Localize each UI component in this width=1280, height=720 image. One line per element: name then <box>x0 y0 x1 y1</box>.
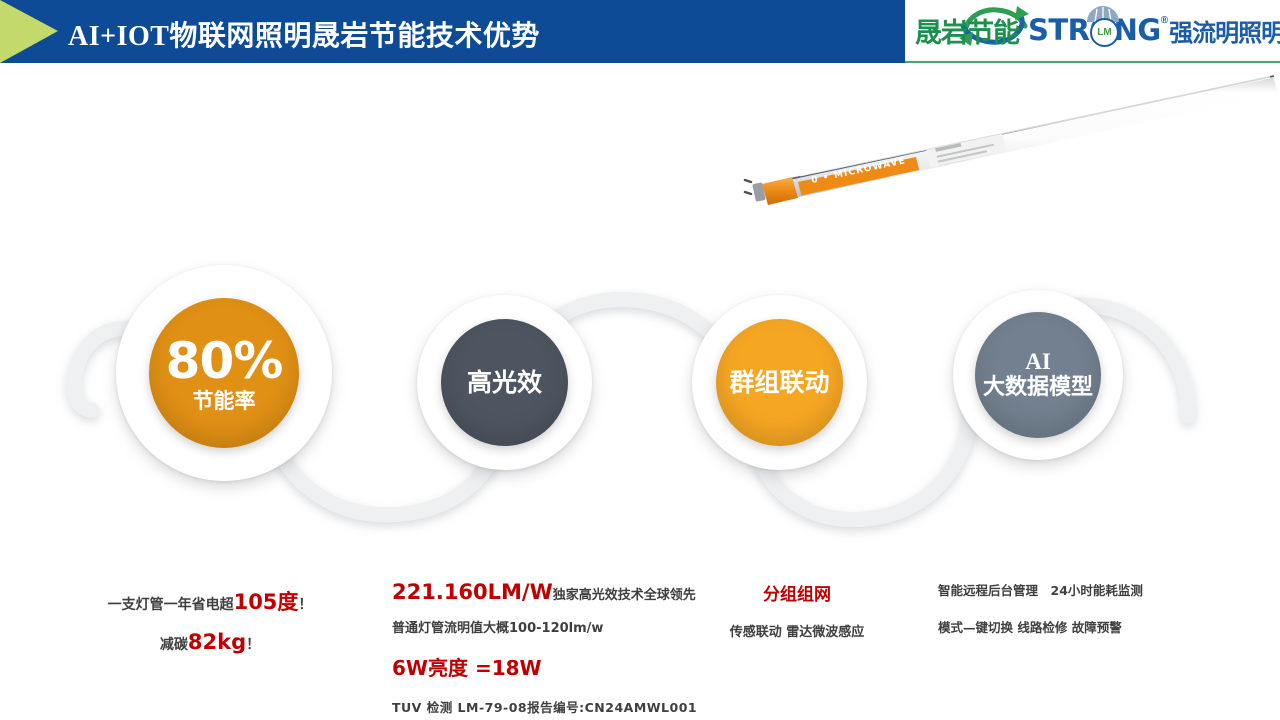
caption-text: ！ <box>298 597 312 613</box>
page-title: AI+IOT物联网照明晟岩节能技术优势 <box>68 14 540 54</box>
caption-text: 独家高光效技术全球领先 <box>553 588 696 603</box>
node-label: 群组联动 <box>729 369 829 397</box>
caption-highlight: 分组组网 <box>712 580 882 605</box>
node-label: 大数据模型 <box>983 376 1093 401</box>
caption-line: TUV 检测 LM-79-08报告编号:CN24AMWL001 <box>392 697 697 716</box>
led-tube-light-image: 0 • MICROWAVE <box>740 70 1280 210</box>
caption-column-ai: 智能远程后台管理 24小时能耗监测 模式—键切换 线路检修 故障预警 <box>938 580 1143 636</box>
arrow-icon <box>0 0 58 63</box>
slide-root: AI+IOT物联网照明晟岩节能技术优势 晟岩节能 STRONG LM ® 强流明… <box>0 0 1280 720</box>
caption-column-linkage: 分组组网 传感联动 雷达微波感应 <box>712 580 882 640</box>
node-value: 80% <box>166 333 283 389</box>
caption-column-energy: 一支灯管一年省电超105度！ 减碳82kg！ <box>100 586 320 654</box>
caption-text: 减碳 <box>160 637 188 653</box>
node-high-efficiency[interactable]: 高光效 <box>417 295 592 470</box>
caption-line: 一支灯管一年省电超105度！ <box>100 586 320 616</box>
caption-highlight: 82kg <box>188 630 246 654</box>
node-value: AI <box>1025 349 1051 375</box>
node-label: 高光效 <box>467 369 542 397</box>
caption-text: 一支灯管一年省电超 <box>108 597 234 613</box>
node-disc: 群组联动 <box>716 319 843 446</box>
caption-line: 模式—键切换 线路检修 故障预警 <box>938 617 1143 636</box>
node-disc: 高光效 <box>441 319 568 446</box>
caption-line: 221.160LM/W独家高光效技术全球领先 <box>392 580 697 604</box>
caption-line: 智能远程后台管理 24小时能耗监测 <box>938 580 1143 599</box>
caption-line: 减碳82kg！ <box>100 630 320 654</box>
node-label: 节能率 <box>193 390 256 414</box>
company-logo: 晟岩节能 STRONG LM ® 强流明照明 <box>905 0 1280 63</box>
node-energy-saving[interactable]: 80% 节能率 <box>116 265 332 481</box>
caption-line: 传感联动 雷达微波感应 <box>712 621 882 640</box>
node-group-linkage[interactable]: 群组联动 <box>692 295 867 470</box>
node-disc: 80% 节能率 <box>149 298 299 448</box>
caption-highlight: 105度 <box>234 590 299 614</box>
caption-line: 普通灯管流明值大概100-120lm/w <box>392 617 697 636</box>
logo-brand-cn2: 强流明照明 <box>1169 13 1280 48</box>
caption-text: ！ <box>246 637 260 653</box>
caption-column-efficiency: 221.160LM/W独家高光效技术全球领先 普通灯管流明值大概100-120l… <box>392 580 697 716</box>
logo-brand-cn: 晟岩节能 <box>915 11 1019 50</box>
node-ai-big-data[interactable]: AI 大数据模型 <box>953 290 1123 460</box>
logo-strong-group: STRONG LM ® 强流明照明 <box>1028 13 1280 48</box>
caption-highlight: 221.160LM/W <box>392 580 553 604</box>
header-bar: AI+IOT物联网照明晟岩节能技术优势 晟岩节能 STRONG LM ® 强流明… <box>0 0 1280 63</box>
caption-highlight: 6W亮度 =18W <box>392 652 697 681</box>
registered-mark: ® <box>1161 15 1168 26</box>
logo-lm-badge: LM <box>1090 18 1119 47</box>
node-disc: AI 大数据模型 <box>975 312 1101 438</box>
